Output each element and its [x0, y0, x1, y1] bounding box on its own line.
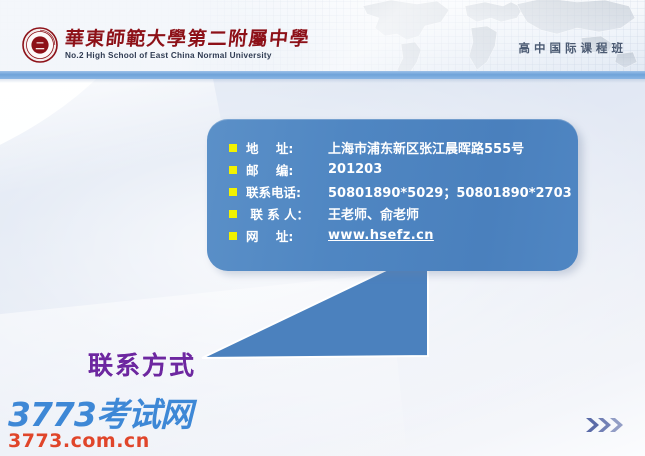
contact-value-phone: 50801890*5029；50801890*2703 — [328, 182, 572, 201]
contact-label: 联系电话: — [246, 182, 328, 201]
contact-list: 地 址: 上海市浦东新区张江晨晖路555号 邮 编: 201203 联系电话: … — [229, 136, 568, 246]
school-name-en: No.2 High School of East China Normal Un… — [65, 52, 310, 60]
program-label: 高中国际课程班 — [519, 40, 628, 56]
contact-label: 地 址: — [246, 138, 328, 157]
website-link[interactable]: www.hsefz.cn — [328, 228, 434, 243]
slide-header: 二 華東師範大學第二附屬中學 No.2 High School of East … — [0, 0, 645, 72]
contact-label: 邮 编: — [246, 160, 328, 179]
next-slide-chevrons[interactable] — [585, 416, 631, 434]
watermark-domain: 3773.com.cn — [8, 432, 192, 451]
bullet-square-icon — [229, 144, 237, 152]
school-logo: 二 華東師範大學第二附屬中學 No.2 High School of East … — [22, 27, 310, 63]
header-divider — [0, 71, 645, 79]
contact-value-person: 王老师、俞老师 — [328, 204, 419, 223]
svg-text:二: 二 — [35, 42, 44, 52]
contact-label: 网 址: — [246, 226, 328, 245]
section-title: 联系方式 — [88, 346, 196, 382]
bullet-square-icon — [229, 232, 237, 240]
bullet-square-icon — [229, 166, 237, 174]
school-crest-icon: 二 — [22, 27, 58, 63]
school-name-cn: 華東師範大學第二附屬中學 — [64, 30, 311, 49]
contact-row-postcode: 邮 编: 201203 — [229, 158, 568, 180]
bullet-square-icon — [229, 188, 237, 196]
header-divider-shadow — [0, 79, 645, 83]
contact-row-phone: 联系电话: 50801890*5029；50801890*2703 — [229, 180, 568, 202]
contact-row-person: 联 系 人： 王老师、俞老师 — [229, 202, 568, 224]
site-watermark: 3773考试网 3773.com.cn — [8, 398, 192, 451]
contact-callout: 地 址: 上海市浦东新区张江晨晖路555号 邮 编: 201203 联系电话: … — [207, 119, 578, 271]
contact-value-postcode: 201203 — [328, 162, 382, 177]
watermark-brand: 3773考试网 — [8, 398, 192, 431]
slide-canvas: 二 華東師範大學第二附屬中學 No.2 High School of East … — [0, 0, 645, 456]
contact-row-website: 网 址: www.hsefz.cn — [229, 224, 568, 246]
bullet-square-icon — [229, 210, 237, 218]
triple-chevron-right-icon[interactable] — [585, 416, 631, 434]
contact-label: 联 系 人： — [246, 204, 328, 223]
contact-row-address: 地 址: 上海市浦东新区张江晨晖路555号 — [229, 136, 568, 158]
contact-value-address: 上海市浦东新区张江晨晖路555号 — [328, 138, 524, 157]
